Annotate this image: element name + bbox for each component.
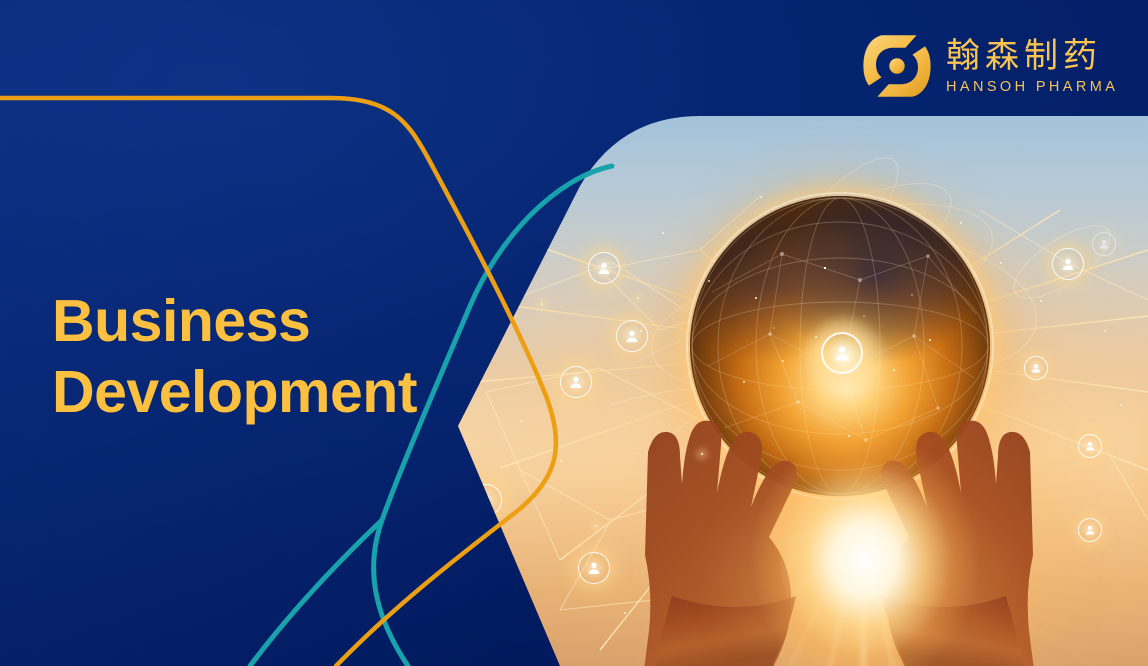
person-glyph: [1084, 440, 1096, 452]
person-node-icon: [1078, 518, 1102, 542]
page-title: Business Development: [52, 286, 417, 428]
logo-wing-upper: [863, 35, 916, 85]
spark: [636, 296, 640, 300]
dust-particle: [640, 330, 642, 332]
hansoh-hexagon-s-logo-icon: [862, 31, 932, 101]
dust-particle: [520, 420, 522, 422]
person-glyph: [624, 328, 640, 344]
logo-chinese-name: 翰森制药: [946, 36, 1118, 76]
business-development-banner: Business Development 翰森制药 HANSOH PHARMA: [0, 0, 1148, 666]
person-glyph: [596, 260, 612, 276]
dust-particle: [960, 222, 962, 224]
logo-center-dot: [889, 58, 904, 73]
person-glyph: [1098, 238, 1110, 250]
dust-particle: [662, 232, 664, 234]
dust-particle: [560, 460, 562, 462]
person-glyph: [568, 374, 584, 390]
dust-particle: [1104, 330, 1106, 332]
person-node-icon: [588, 252, 620, 284]
person-glyph: [1060, 256, 1076, 272]
dust-particle: [708, 280, 710, 282]
spark: [540, 302, 544, 306]
dust-particle: [760, 196, 762, 198]
hansoh-logo[interactable]: 翰森制药 HANSOH PHARMA: [862, 31, 1118, 101]
dust-particle: [1000, 262, 1002, 264]
light-burst-core: [750, 430, 980, 666]
spark: [594, 524, 598, 528]
logo-wordmark: 翰森制药 HANSOH PHARMA: [946, 36, 1118, 96]
person-node-icon: [616, 320, 648, 352]
person-node-icon: [1024, 356, 1048, 380]
person-node-icon: [1092, 232, 1116, 256]
person-node-icon: [560, 366, 592, 398]
logo-english-name: HANSOH PHARMA: [946, 78, 1118, 96]
person-node-icon: [578, 552, 610, 584]
logo-wing-lower: [877, 46, 930, 96]
person-node-icon: [1052, 248, 1084, 280]
spark: [700, 452, 704, 456]
dust-particle: [1120, 404, 1122, 406]
person-glyph: [1084, 524, 1096, 536]
person-glyph: [1030, 362, 1042, 374]
dust-particle: [1040, 300, 1042, 302]
person-node-icon: [1078, 434, 1102, 458]
dust-particle: [624, 612, 626, 614]
person-glyph: [586, 560, 602, 576]
